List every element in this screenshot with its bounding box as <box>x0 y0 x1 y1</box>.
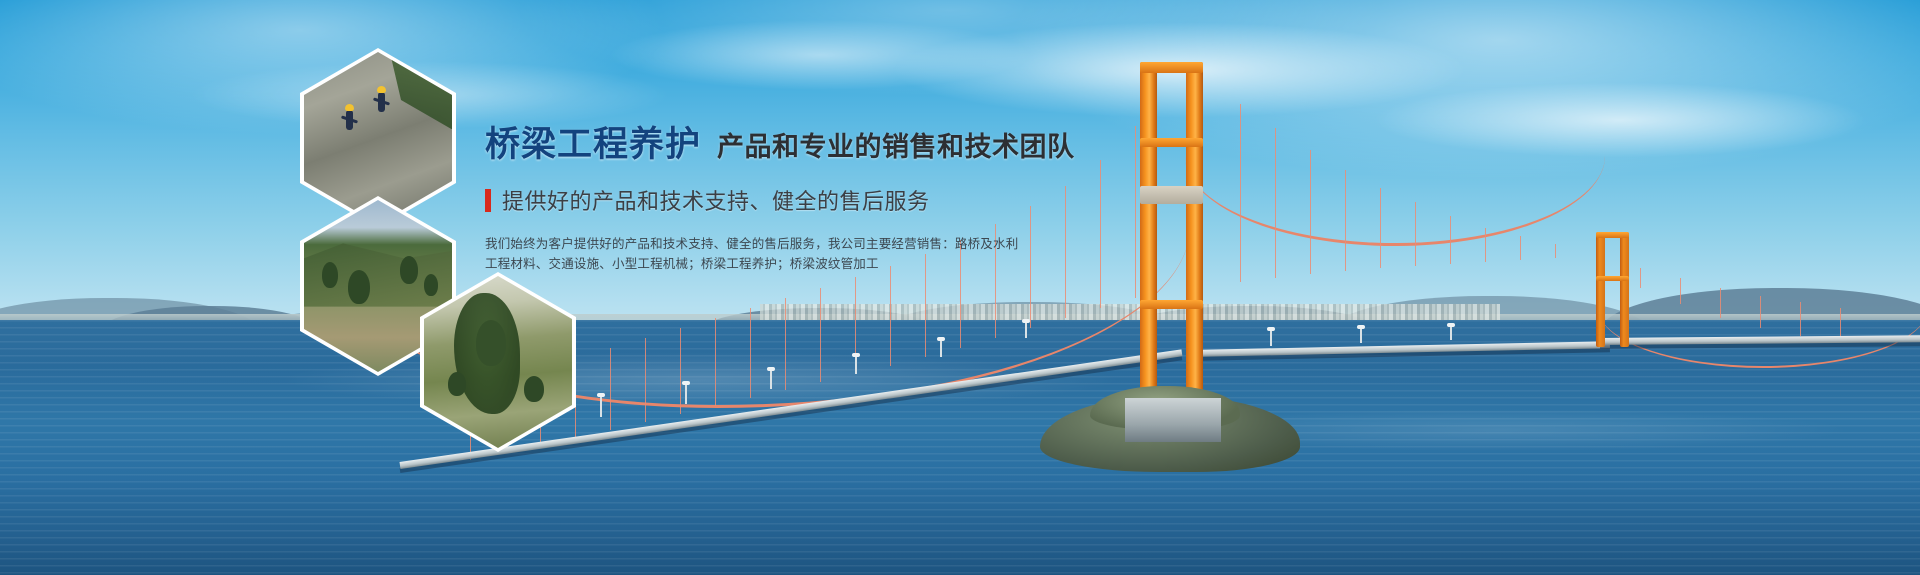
description-line-1: 我们始终为客户提供好的产品和技术支持、健全的售后服务，我公司主要经营销售：路桥及… <box>485 234 1125 254</box>
headline-secondary: 产品和专业的销售和技术团队 <box>717 134 1075 163</box>
accent-bar-icon <box>485 189 491 212</box>
suspension-bridge <box>0 0 1920 575</box>
banner-description: 我们始终为客户提供好的产品和技术支持、健全的售后服务，我公司主要经营销售：路桥及… <box>485 234 1125 274</box>
banner-text-block: 桥梁工程养护 产品和专业的销售和技术团队 提供好的产品和技术支持、健全的售后服务… <box>485 128 1125 274</box>
subheadline-text: 提供好的产品和技术支持、健全的售后服务 <box>502 184 930 216</box>
banner-headline: 桥梁工程养护 产品和专业的销售和技术团队 <box>485 128 1125 163</box>
hero-banner: 桥梁工程养护 产品和专业的销售和技术团队 提供好的产品和技术支持、健全的售后服务… <box>0 0 1920 575</box>
banner-subheadline: 提供好的产品和技术支持、健全的售后服务 <box>485 184 1125 216</box>
description-line-2: 工程材料、交通设施、小型工程机械；桥梁工程养护；桥梁波纹管加工 <box>485 254 1125 274</box>
headline-primary: 桥梁工程养护 <box>485 128 701 163</box>
